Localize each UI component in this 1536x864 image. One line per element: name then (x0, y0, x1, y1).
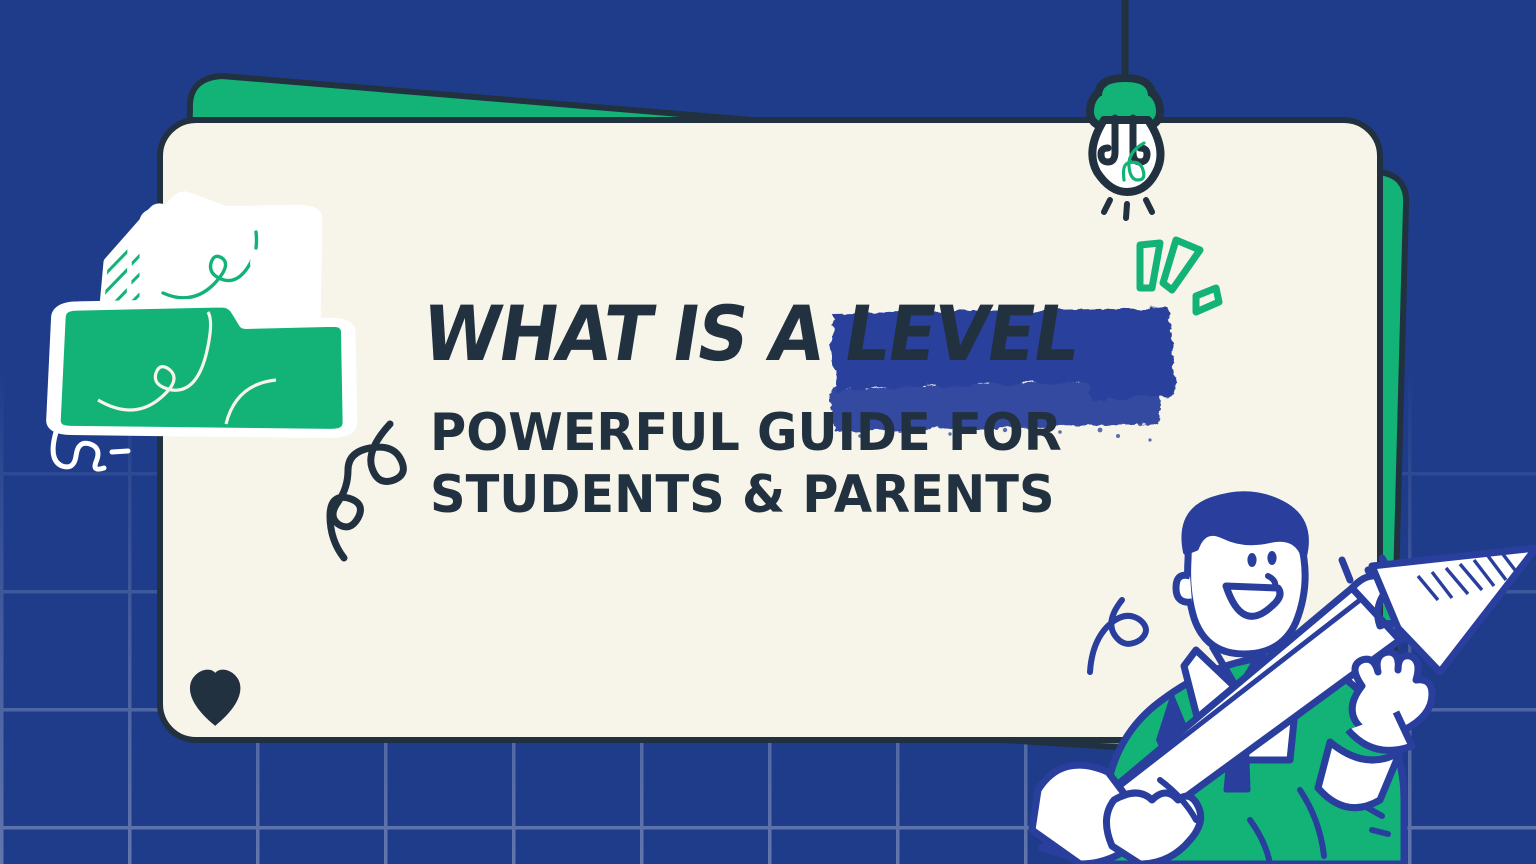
poster-canvas: WHAT IS A LEVEL POWERFUL GUIDE FOR STUDE… (0, 0, 1536, 864)
student-with-pencil-illustration (1032, 494, 1536, 864)
character-eye-left (1247, 553, 1256, 567)
character-hand-upper (1348, 652, 1432, 750)
character-layer (0, 0, 1536, 864)
character-eye-right (1267, 551, 1276, 565)
